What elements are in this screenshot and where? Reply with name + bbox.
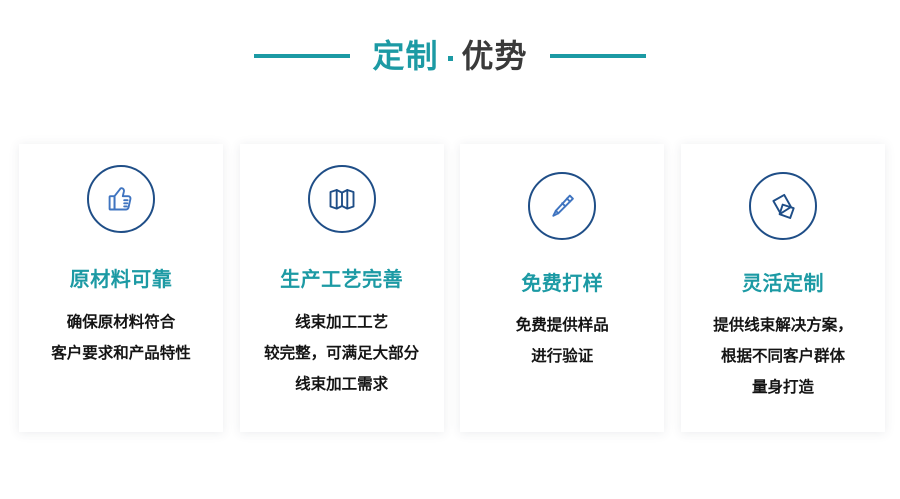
card-description-line: 确保原材料符合 [26,307,216,338]
card-description-line: 免费提供样品 [467,310,657,341]
pencil-icon [543,187,581,225]
card-description-line: 客户要求和产品特性 [26,338,216,369]
card-description: 提供线束解决方案， 根据不同客户群体 量身打造 [688,310,878,403]
card-description-line: 线束加工工艺 [247,307,437,338]
card-title: 原材料可靠 [70,270,173,290]
card-description: 免费提供样品 进行验证 [467,310,657,372]
card-description-line: 根据不同客户群体 [688,341,878,372]
icon-circle [87,165,155,233]
thumbs-up-icon [102,180,140,218]
card-description-line: 线束加工需求 [247,369,437,400]
icon-circle [308,165,376,233]
title-rule-right [550,54,646,58]
section-title-text: 定制 优势 [372,40,527,72]
card-description-line: 量身打造 [688,372,878,403]
section-title-main: 定制 [372,40,438,72]
card-description-line: 进行验证 [467,341,657,372]
card-description-line: 提供线束解决方案， [688,310,878,341]
card-description-line: 较完整，可满足大部分 [247,338,437,369]
card-description: 确保原材料符合 客户要求和产品特性 [26,307,216,369]
title-separator-dot [448,56,453,61]
stacked-cards-icon [764,187,802,225]
card-title: 灵活定制 [742,274,824,294]
feature-card-production-process[interactable]: 生产工艺完善 线束加工工艺 较完整，可满足大部分 线束加工需求 [240,144,444,432]
feature-card-raw-material[interactable]: 原材料可靠 确保原材料符合 客户要求和产品特性 [19,144,223,432]
section-title: 定制 优势 [0,28,900,84]
folded-map-icon [323,180,361,218]
card-title: 免费打样 [521,274,603,294]
icon-circle [528,172,596,240]
section-title-sub: 优势 [462,40,528,72]
feature-cards-row: 原材料可靠 确保原材料符合 客户要求和产品特性 生产工艺完善 线束加工工艺 较完… [19,144,885,432]
card-description: 线束加工工艺 较完整，可满足大部分 线束加工需求 [247,307,437,400]
feature-card-flexible-customization[interactable]: 灵活定制 提供线束解决方案， 根据不同客户群体 量身打造 [681,144,885,432]
icon-circle [749,172,817,240]
card-title: 生产工艺完善 [280,270,403,290]
feature-card-free-sample[interactable]: 免费打样 免费提供样品 进行验证 [460,144,664,432]
title-rule-left [254,54,350,58]
